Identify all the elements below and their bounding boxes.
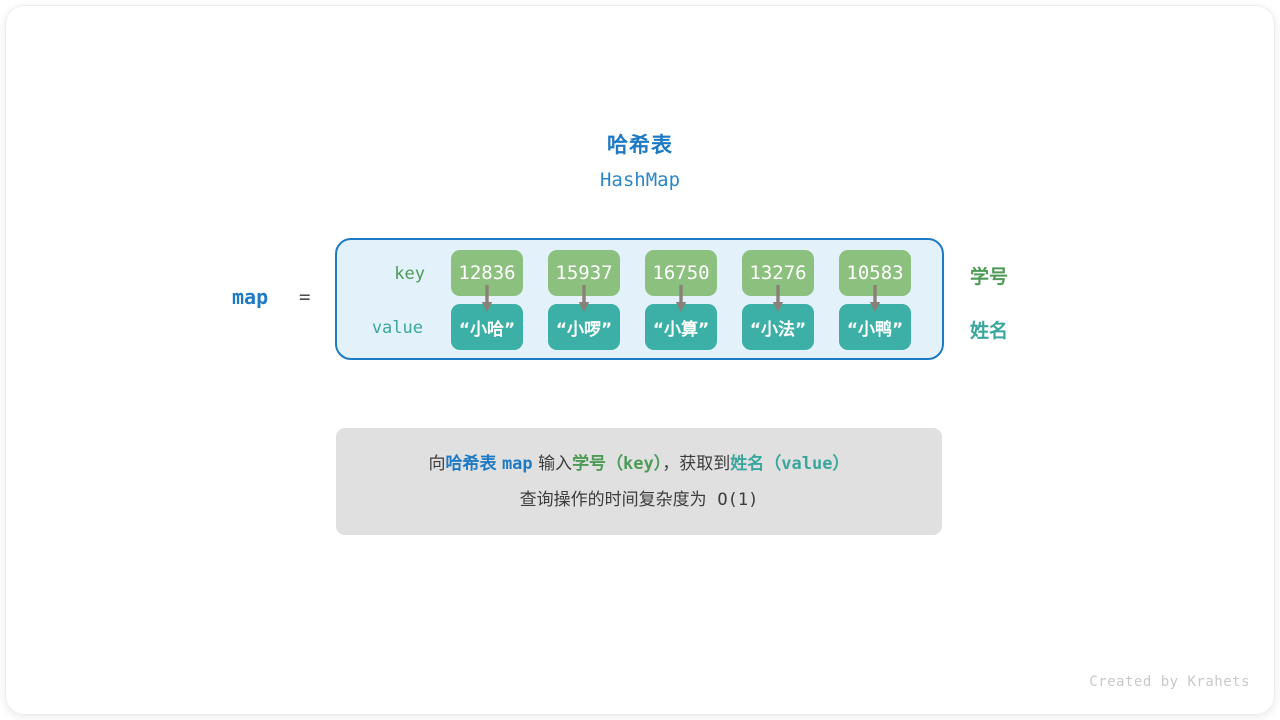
key-to-value-arrow-icon <box>480 285 494 313</box>
caption-seg-7: ，获取到 <box>662 454 730 474</box>
caption-seg-name: 姓名 <box>730 454 764 474</box>
row-label-key: key <box>355 264 425 284</box>
title-block: 哈希表 HashMap <box>0 130 1280 196</box>
caption-seg-studentid: 学号 <box>572 454 606 474</box>
card-frame <box>6 6 1274 714</box>
caption-seg-key: （key） <box>606 454 662 474</box>
caption-seg-hashmap: 哈希表 <box>446 454 497 474</box>
page-subtitle: HashMap <box>0 164 1280 196</box>
legend-key-label: 学号 <box>970 262 1008 289</box>
row-label-value: value <box>353 318 423 338</box>
caption-complexity-text: 查询操作的时间复杂度为 <box>520 490 707 510</box>
caption-line-2: 查询操作的时间复杂度为 O(1) <box>520 482 759 518</box>
caption-line-1: 向哈希表 map 输入学号（key），获取到姓名（value） <box>429 446 850 482</box>
credit-text: Created by Krahets <box>1089 674 1250 690</box>
key-to-value-arrow-icon <box>868 285 882 313</box>
diagram-canvas: 哈希表 HashMap map = key value 12836 15937 … <box>0 0 1280 720</box>
page-title: 哈希表 <box>0 130 1280 160</box>
caption-seg-1: 向 <box>429 454 446 474</box>
caption-seg-map: map <box>502 454 533 474</box>
variable-name: map <box>232 285 268 309</box>
key-to-value-arrow-icon <box>577 285 591 313</box>
equals-sign: = <box>299 286 310 308</box>
caption-panel: 向哈希表 map 输入学号（key），获取到姓名（value） 查询操作的时间复… <box>336 428 942 535</box>
caption-seg-4: 输入 <box>538 454 572 474</box>
caption-seg-value: （value） <box>764 454 849 474</box>
key-to-value-arrow-icon <box>674 285 688 313</box>
key-to-value-arrow-icon <box>771 285 785 313</box>
legend-value-label: 姓名 <box>970 316 1008 343</box>
caption-complexity-value: O(1) <box>717 490 758 510</box>
